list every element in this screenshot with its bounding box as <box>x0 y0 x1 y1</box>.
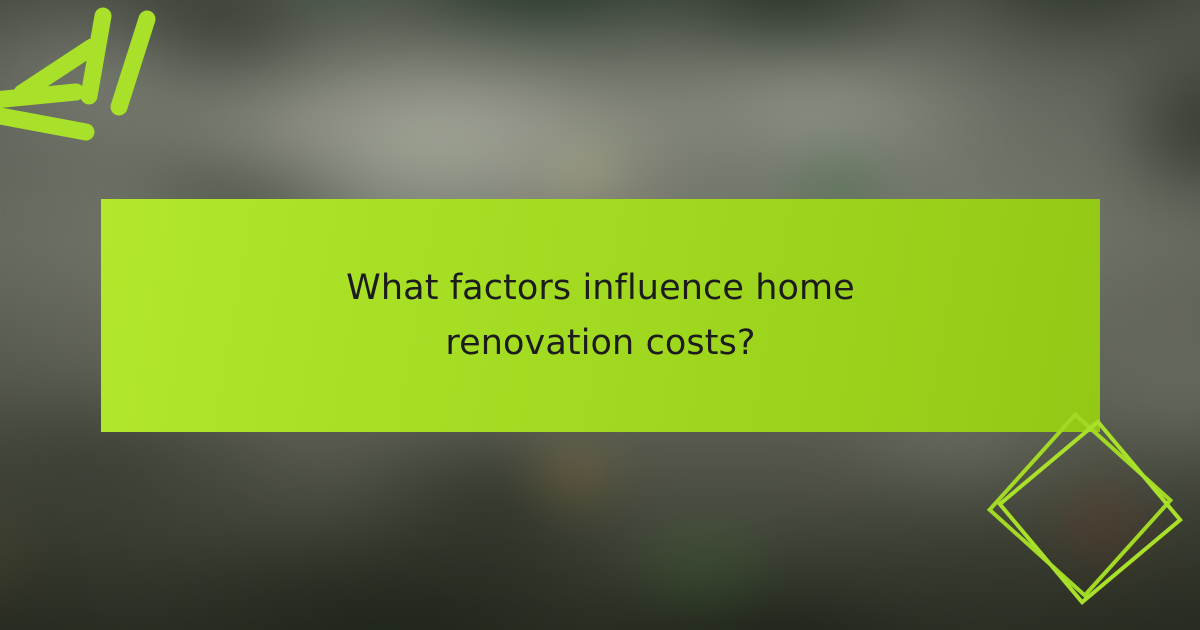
question-card-canvas: What factors influence home renovation c… <box>0 0 1200 630</box>
question-text: What factors influence home renovation c… <box>251 261 951 371</box>
question-banner: What factors influence home renovation c… <box>101 199 1100 432</box>
